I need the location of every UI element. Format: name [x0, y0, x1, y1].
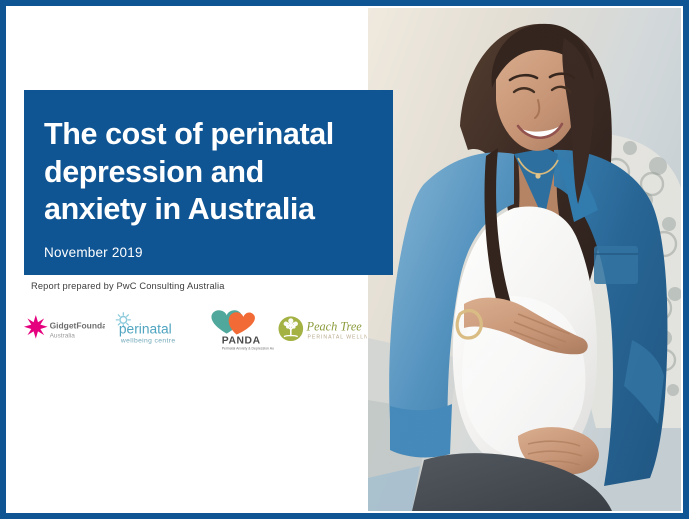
report-cover-page: The cost of perinatal depression and anx… — [0, 0, 689, 519]
gidget-secondary-text: Australia — [50, 333, 76, 340]
logo-peach-tree-perinatal-wellness: Peach Tree PERINATAL WELLNESS — [278, 309, 367, 349]
publication-date: November 2019 — [44, 245, 371, 260]
logo-gidget-foundation-australia: GidgetFoundation Australia — [22, 309, 105, 349]
page-border-top — [0, 0, 689, 6]
panda-double-heart-icon — [212, 311, 255, 335]
logo-panda: PANDA Perinatal Anxiety & Depression Aus… — [205, 309, 274, 349]
cover-photo — [368, 8, 681, 511]
perinatal-primary-text: perinatal — [119, 322, 172, 337]
logo-perinatal-wellbeing-centre: perinatal wellbeing centre — [111, 309, 202, 349]
partner-logo-strip: GidgetFoundation Australia — [22, 303, 367, 355]
peachtree-secondary-text: PERINATAL WELLNESS — [308, 335, 367, 341]
peach-tree-icon — [279, 317, 304, 342]
panda-primary-text: PANDA — [222, 336, 261, 347]
page-border-bottom — [0, 513, 689, 519]
title-panel: The cost of perinatal depression and anx… — [24, 90, 393, 275]
panda-secondary-text: Perinatal Anxiety & Depression Australia — [222, 347, 274, 351]
perinatal-secondary-text: wellbeing centre — [120, 338, 176, 345]
report-credit: Report prepared by PwC Consulting Austra… — [31, 281, 225, 291]
page-border-right — [683, 0, 689, 519]
page-border-left — [0, 0, 6, 519]
page-title: The cost of perinatal depression and anx… — [44, 116, 371, 229]
peachtree-primary-text: Peach Tree — [306, 320, 363, 334]
gidget-primary-text: GidgetFoundation — [50, 321, 105, 331]
gidget-starburst-icon: GidgetFoundation Australia — [22, 312, 105, 345]
